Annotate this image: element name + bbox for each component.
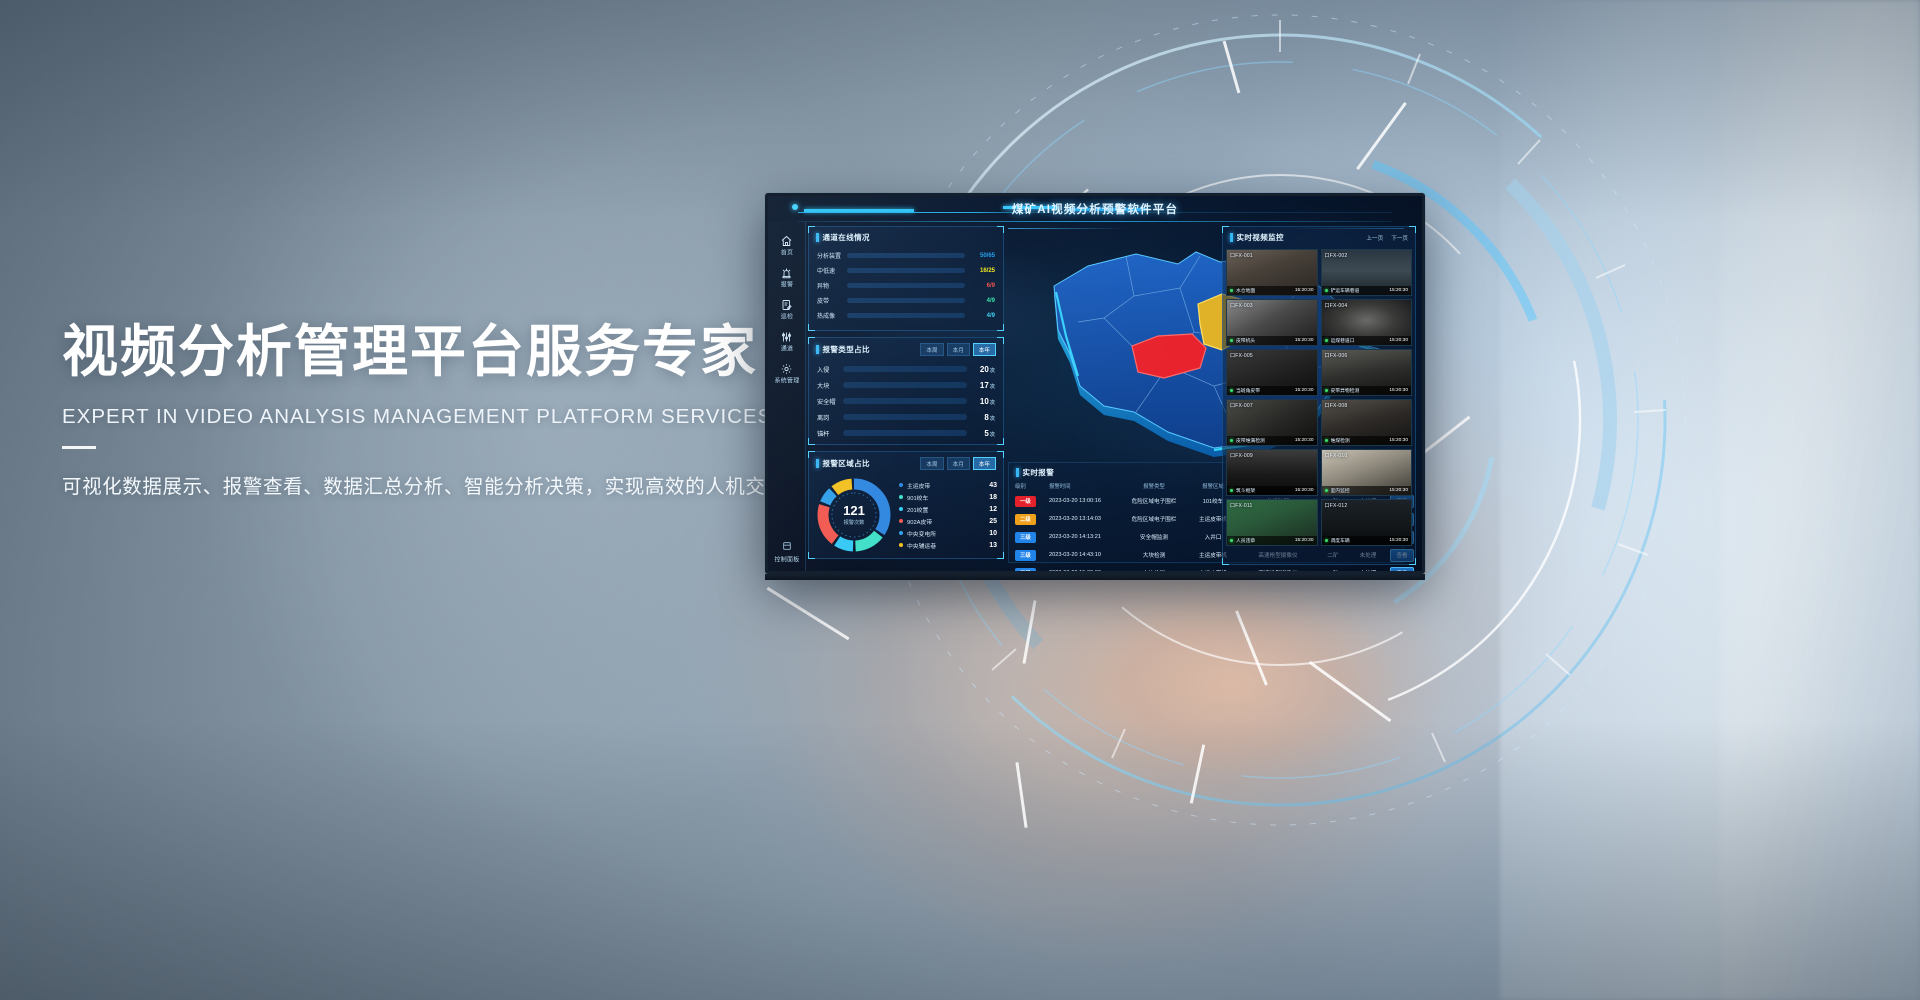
sidebar-item-label: 通道 <box>768 344 810 353</box>
video-caption-bar: 调度车辆15:20:30 <box>1322 536 1412 545</box>
alarm-table-column-header: 级别 <box>1015 482 1049 490</box>
table-row: 三级2023-03-20 15:08:00大块检测主运皮带机高速枪型摄像仪二矿未… <box>1015 564 1397 571</box>
sidebar-bottom-label: 控制面板 <box>774 555 799 564</box>
video-monitor-panel: 实时视频监控 上一页 下一页 口FX-001水仓地面15:20:30口FX-00… <box>1222 226 1416 565</box>
alarm-type-row: 安全帽10次 <box>817 393 995 409</box>
video-location-name: 皮带异物检测 <box>1331 387 1360 394</box>
alarm-type-cell: 大块检测 <box>1123 551 1185 559</box>
legend-value: 25 <box>989 518 997 525</box>
corner <box>808 451 815 458</box>
sidebar-item-label: 巡检 <box>768 312 810 321</box>
channel-row: 中低速16/25 <box>817 263 995 278</box>
alarm-icon <box>780 267 793 279</box>
legend-label: 主运皮带 <box>907 481 989 490</box>
legend-color-dot <box>899 495 903 499</box>
legend-color-dot <box>899 543 903 547</box>
legend-color-dot <box>899 531 903 535</box>
video-channel-id: 口FX-001 <box>1230 252 1253 259</box>
panel-title: 实时视频监控 <box>1237 232 1284 243</box>
alarm-type-row: 锚杆5次 <box>817 425 995 441</box>
channel-name: 异物 <box>817 281 847 290</box>
legend-color-dot <box>899 483 903 487</box>
donut-total: 121 <box>843 504 865 517</box>
period-tabs[interactable]: 本周本月本年 <box>920 343 996 356</box>
video-thumbnail[interactable]: 口FX-008堆煤检测15:20:30 <box>1321 399 1413 446</box>
alarm-type-name: 大块 <box>817 381 843 390</box>
legend-value: 18 <box>989 494 997 501</box>
video-channel-id: 口FX-007 <box>1230 402 1253 409</box>
panel-header: 报警区域占比 本周本月本年 <box>809 452 1003 473</box>
legend-value: 12 <box>989 506 997 513</box>
video-timestamp: 15:20:30 <box>1295 388 1314 393</box>
video-caption-bar: 室内监控15:20:30 <box>1322 486 1412 495</box>
gear-icon <box>780 363 793 375</box>
video-thumbnail[interactable]: 口FX-011人员违章15:20:30 <box>1226 499 1318 546</box>
alarm-type-row: 离岗8次 <box>817 409 995 425</box>
alarm-type-panel: 报警类型占比 本周本月本年 入侵20次大块17次安全帽10次离岗8次锚杆5次 <box>808 337 1004 445</box>
video-timestamp: 15:20:30 <box>1389 438 1408 443</box>
legend-row: 中央变电所10 <box>899 527 997 539</box>
monitor-bezel-bottom <box>765 574 1425 580</box>
alarm-type-value: 17次 <box>967 381 995 390</box>
status-badge: 一级 <box>1015 496 1036 507</box>
video-timestamp: 15:20:30 <box>1389 288 1408 293</box>
video-timestamp: 15:20:30 <box>1389 388 1408 393</box>
page-subtitle: EXPERT IN VIDEO ANALYSIS MANAGEMENT PLAT… <box>62 405 822 429</box>
legend-label: 902A皮带 <box>907 517 989 526</box>
corner <box>997 552 1004 559</box>
alarm-type-cell: 危险区域电子围栏 <box>1123 515 1185 523</box>
page-title: 视频分析管理平台服务专家 <box>62 322 822 385</box>
monitor-frame: 煤矿AI视频分析预警软件平台 首页 报警 巡检 通道 系统 <box>765 193 1425 574</box>
hero-text-block: 视频分析管理平台服务专家 EXPERT IN VIDEO ANALYSIS MA… <box>62 322 822 499</box>
alarm-level-cell: 三级 <box>1015 532 1049 543</box>
video-channel-id: 口FX-006 <box>1325 352 1348 359</box>
donut-center: 121 报警次数 <box>815 476 893 554</box>
video-thumbnail[interactable]: 口FX-006皮带异物检测15:20:30 <box>1321 349 1413 396</box>
channel-value: 6/9 <box>965 283 995 289</box>
video-grid: 口FX-001水仓地面15:20:30口FX-002铲运车辆巷道15:20:30… <box>1223 246 1415 549</box>
panel-title: 通道在线情况 <box>823 232 870 243</box>
sidebar-item-label: 首页 <box>768 248 810 257</box>
legend-label: 901绞车 <box>907 493 989 502</box>
online-status-dot <box>1230 539 1233 542</box>
video-caption-bar: 筑斗框架15:20:30 <box>1227 486 1317 495</box>
inspection-icon <box>780 299 793 311</box>
video-timestamp: 15:20:30 <box>1295 438 1314 443</box>
sidebar-item-inspection[interactable]: 巡检 <box>768 293 806 325</box>
alarm-table-column-header: 报警时间 <box>1049 482 1123 490</box>
tab-本月[interactable]: 本月 <box>947 343 970 356</box>
alarm-type-value: 20次 <box>967 365 995 374</box>
status-badge: 三级 <box>1015 532 1036 543</box>
video-thumbnail[interactable]: 口FX-003皮带机头15:20:30 <box>1226 299 1318 346</box>
sidebar-item-channel[interactable]: 通道 <box>768 325 806 357</box>
channel-value: 50/65 <box>965 253 995 259</box>
legend-value: 10 <box>989 530 997 537</box>
legend-row: 中央辅运巷13 <box>899 539 997 551</box>
corner <box>997 324 1004 331</box>
panel-accent-bar <box>816 233 819 242</box>
video-timestamp: 15:20:30 <box>1295 488 1314 493</box>
panel-header: 实时视频监控 上一页 下一页 <box>1223 227 1415 246</box>
panel-title: 报警类型占比 <box>823 344 870 355</box>
donut-legend: 主运皮带43901绞车18201绞置12902A皮带25中央变电所10中央辅运巷… <box>893 479 997 551</box>
prev-page-button[interactable]: 上一页 <box>1366 234 1383 242</box>
video-channel-id: 口FX-008 <box>1325 402 1348 409</box>
alarm-type-list: 入侵20次大块17次安全帽10次离岗8次锚杆5次 <box>809 359 1003 446</box>
alarm-level-cell: 三级 <box>1015 550 1049 561</box>
channel-name: 分析装置 <box>817 251 847 260</box>
video-channel-id: 口FX-009 <box>1230 452 1253 459</box>
online-status-dot <box>1325 489 1328 492</box>
alarm-time-cell: 2023-03-20 14:13:21 <box>1049 534 1123 540</box>
dashboard-screen: 煤矿AI视频分析预警软件平台 首页 报警 巡检 通道 系统 <box>768 196 1422 571</box>
alarm-type-track <box>843 382 967 388</box>
video-caption-bar: 运煤巷道口15:20:30 <box>1322 336 1412 345</box>
panel-title: 实时报警 <box>1023 467 1055 478</box>
online-status-dot <box>1230 289 1233 292</box>
alarm-time-cell: 2023-03-20 13:14:03 <box>1049 516 1123 522</box>
video-location-name: 皮带堆满检测 <box>1236 437 1265 444</box>
channel-name: 中低速 <box>817 266 847 275</box>
alarm-time-cell: 2023-03-20 14:43:10 <box>1049 552 1123 558</box>
donut-chart: 121 报警次数 <box>815 476 893 554</box>
corner <box>808 552 815 559</box>
panel-header: 通道在线情况 <box>809 227 1003 246</box>
legend-color-dot <box>899 507 903 511</box>
channel-row: 分析装置50/65 <box>817 248 995 263</box>
tab-本月[interactable]: 本月 <box>947 457 970 470</box>
online-status-dot <box>1325 339 1328 342</box>
alarm-type-unit: 次 <box>990 368 995 374</box>
alarm-type-row: 大块17次 <box>817 377 995 393</box>
video-timestamp: 15:20:30 <box>1389 338 1408 343</box>
video-thumbnail[interactable]: 口FX-010室内监控15:20:30 <box>1321 449 1413 496</box>
alarm-action-cell: 查看 <box>1385 567 1419 572</box>
video-caption-bar: 皮带机头15:20:30 <box>1227 336 1317 345</box>
channel-value: 4/9 <box>965 313 995 319</box>
video-channel-id: 口FX-010 <box>1325 452 1348 459</box>
video-location-name: 铲运车辆巷道 <box>1331 287 1360 294</box>
video-channel-id: 口FX-002 <box>1325 252 1348 259</box>
video-channel-id: 口FX-003 <box>1230 302 1253 309</box>
legend-label: 中央辅运巷 <box>907 541 989 550</box>
next-page-button[interactable]: 下一页 <box>1391 234 1408 242</box>
legend-color-dot <box>899 519 903 523</box>
channel-progress-track <box>847 298 965 303</box>
online-status-dot <box>1230 489 1233 492</box>
video-timestamp: 15:20:30 <box>1389 538 1408 543</box>
alarm-area-cell: 主运皮带机 <box>1185 569 1241 571</box>
channel-list: 分析装置50/65中低速16/25异物6/9皮带4/9热成像4/9 <box>809 246 1003 329</box>
sidebar-item-home[interactable]: 首页 <box>768 229 806 261</box>
video-thumbnail[interactable]: 口FX-001水仓地面15:20:30 <box>1226 249 1318 296</box>
video-channel-id: 口FX-004 <box>1325 302 1348 309</box>
video-thumbnail[interactable]: 口FX-002铲运车辆巷道15:20:30 <box>1321 249 1413 296</box>
video-channel-id: 口FX-012 <box>1325 502 1348 509</box>
video-caption-bar: 水仓地面15:20:30 <box>1227 286 1317 295</box>
video-location-name: 堆煤检测 <box>1331 437 1350 444</box>
sidebar-item-label: 系统管理 <box>768 376 810 385</box>
corner <box>808 438 815 445</box>
video-thumbnail[interactable]: 口FX-012调度车辆15:20:30 <box>1321 499 1413 546</box>
corner <box>997 451 1004 458</box>
alarm-type-name: 入侵 <box>817 365 843 374</box>
video-location-name: 皮带机头 <box>1236 337 1255 344</box>
alarm-level-cell: 三级 <box>1015 568 1049 572</box>
panel-accent-bar <box>816 345 819 354</box>
video-timestamp: 15:20:30 <box>1295 538 1314 543</box>
alarm-type-unit: 次 <box>990 384 995 390</box>
alarm-time-cell: 2023-03-20 13:00:16 <box>1049 498 1123 504</box>
legend-value: 13 <box>989 542 997 549</box>
legend-value: 43 <box>989 482 997 489</box>
video-location-name: 筑斗框架 <box>1236 487 1255 494</box>
panel-title: 报警区域占比 <box>823 458 870 469</box>
tab-本年[interactable]: 本年 <box>973 343 996 356</box>
status-badge: 二级 <box>1015 514 1036 525</box>
channel-name: 热成像 <box>817 311 847 320</box>
online-status-dot <box>1230 439 1233 442</box>
video-location-name: 运煤巷道口 <box>1331 337 1355 344</box>
dashboard-title: 煤矿AI视频分析预警软件平台 <box>768 201 1422 217</box>
video-caption-bar: 皮带堆满检测15:20:30 <box>1227 436 1317 445</box>
donut-total-caption: 报警次数 <box>844 519 865 526</box>
online-status-dot <box>1325 439 1328 442</box>
alarm-type-unit: 次 <box>990 432 995 438</box>
alarm-type-unit: 次 <box>990 400 995 406</box>
video-timestamp: 15:20:30 <box>1295 288 1314 293</box>
corner <box>1409 226 1416 233</box>
video-location-name: 当斑角皮带 <box>1236 387 1260 394</box>
dashboard-sidebar[interactable]: 首页 报警 巡检 通道 系统管理 控制面板 <box>768 222 806 571</box>
page-description: 可视化数据展示、报警查看、数据汇总分析、智能分析决策，实现高效的人机交互 <box>62 470 822 499</box>
alarm-type-track <box>843 430 967 436</box>
legend-label: 中央变电所 <box>907 529 989 538</box>
alarm-type-value: 8次 <box>967 413 995 422</box>
online-status-dot <box>1325 389 1328 392</box>
video-location-name: 室内监控 <box>1331 487 1350 494</box>
status-badge: 三级 <box>1015 550 1036 561</box>
online-status-dot <box>1230 389 1233 392</box>
video-caption-bar: 皮带异物检测15:20:30 <box>1322 386 1412 395</box>
channel-name: 皮带 <box>817 296 847 305</box>
alarm-mine-cell: 二矿 <box>1315 569 1351 571</box>
alarm-type-cell: 大块检测 <box>1123 569 1185 571</box>
online-status-dot <box>1325 539 1328 542</box>
period-tabs[interactable]: 本周本月本年 <box>920 457 996 470</box>
right-column: 实时视频监控 上一页 下一页 口FX-001水仓地面15:20:30口FX-00… <box>1222 226 1416 565</box>
view-button[interactable]: 查看 <box>1390 567 1415 572</box>
channel-value: 16/25 <box>965 268 995 274</box>
alarm-state-cell: 未处理 <box>1351 569 1385 571</box>
online-status-dot <box>1230 339 1233 342</box>
panel-accent-bar <box>1016 468 1019 477</box>
corner <box>997 438 1004 445</box>
alarm-table-column-header: 报警类型 <box>1123 482 1185 490</box>
header-underline <box>798 221 1392 222</box>
video-pager[interactable]: 上一页 下一页 <box>1366 234 1408 242</box>
dashboard-header: 煤矿AI视频分析预警软件平台 <box>768 196 1422 222</box>
sidebar-item-label: 报警 <box>768 280 810 289</box>
online-status-dot <box>1325 289 1328 292</box>
corner <box>1222 558 1229 565</box>
channel-progress-track <box>847 253 965 258</box>
alarm-type-track <box>843 366 967 372</box>
alarm-type-unit: 次 <box>990 416 995 422</box>
video-caption-bar: 人员违章15:20:30 <box>1227 536 1317 545</box>
sidebar-item-system[interactable]: 系统管理 <box>768 357 806 389</box>
video-location-name: 水仓地面 <box>1236 287 1255 294</box>
map-top-line-left <box>1008 228 1128 229</box>
video-channel-id: 口FX-005 <box>1230 352 1253 359</box>
alarm-type-value: 10次 <box>967 397 995 406</box>
channel-row: 热成像4/9 <box>817 308 995 323</box>
tab-本周[interactable]: 本周 <box>920 343 943 356</box>
video-caption-bar: 堆煤检测15:20:30 <box>1322 436 1412 445</box>
donut-chart-wrap: 121 报警次数 主运皮带43901绞车18201绞置12902A皮带25中央变… <box>809 473 1003 558</box>
alarm-type-name: 安全帽 <box>817 397 843 406</box>
sidebar-item-control-panel[interactable]: 控制面板 <box>777 538 797 571</box>
alarm-type-track <box>843 414 967 420</box>
video-location-name: 人员违章 <box>1236 537 1255 544</box>
corner <box>1409 558 1416 565</box>
channel-online-panel: 通道在线情况 分析装置50/65中低速16/25异物6/9皮带4/9热成像4/9 <box>808 226 1004 331</box>
corner <box>1222 226 1229 233</box>
video-thumbnail[interactable]: 口FX-007皮带堆满检测15:20:30 <box>1226 399 1318 446</box>
panel-header: 报警类型占比 本周本月本年 <box>809 338 1003 359</box>
alarm-type-value: 5次 <box>967 429 995 438</box>
corner <box>808 337 815 344</box>
home-icon <box>780 235 793 247</box>
video-caption-bar: 铲运车辆巷道15:20:30 <box>1322 286 1412 295</box>
video-thumbnail[interactable]: 口FX-005当斑角皮带15:20:30 <box>1226 349 1318 396</box>
legend-row: 201绞置12 <box>899 503 997 515</box>
video-location-name: 调度车辆 <box>1331 537 1350 544</box>
video-timestamp: 15:20:30 <box>1389 488 1408 493</box>
legend-label: 201绞置 <box>907 505 989 514</box>
corner <box>808 226 815 233</box>
alarm-area-panel: 报警区域占比 本周本月本年 121 报警次数 主运皮带43901绞车18201绞… <box>808 451 1004 559</box>
alarm-type-cell: 安全帽监测 <box>1123 533 1185 541</box>
panel-accent-bar <box>816 459 819 468</box>
panel-icon <box>782 541 792 551</box>
legend-row: 主运皮带43 <box>899 479 997 491</box>
channel-value: 4/9 <box>965 298 995 304</box>
panel-accent-bar <box>1230 233 1233 242</box>
channel-progress-track <box>847 268 965 273</box>
alarm-type-track <box>843 398 967 404</box>
channel-row: 皮带4/9 <box>817 293 995 308</box>
divider-rule <box>62 446 96 449</box>
alarm-time-cell: 2023-03-20 15:08:00 <box>1049 570 1123 571</box>
video-timestamp: 15:20:30 <box>1295 338 1314 343</box>
legend-row: 901绞车18 <box>899 491 997 503</box>
corner <box>997 337 1004 344</box>
corner <box>997 226 1004 233</box>
channel-progress-track <box>847 313 965 318</box>
video-thumbnail[interactable]: 口FX-009筑斗框架15:20:30 <box>1226 449 1318 496</box>
channel-row: 异物6/9 <box>817 278 995 293</box>
alarm-type-row: 入侵20次 <box>817 361 995 377</box>
alarm-type-name: 锚杆 <box>817 429 843 438</box>
video-channel-id: 口FX-011 <box>1230 502 1252 509</box>
tab-本周[interactable]: 本周 <box>920 457 943 470</box>
channel-icon <box>780 331 793 343</box>
video-caption-bar: 当斑角皮带15:20:30 <box>1227 386 1317 395</box>
sidebar-item-alarm[interactable]: 报警 <box>768 261 806 293</box>
tab-本年[interactable]: 本年 <box>973 457 996 470</box>
alarm-device-cell: 高速枪型摄像仪 <box>1241 569 1315 571</box>
status-badge: 三级 <box>1015 568 1036 572</box>
alarm-level-cell: 二级 <box>1015 514 1049 525</box>
alarm-type-name: 离岗 <box>817 413 843 422</box>
alarm-type-cell: 危险区域电子围栏 <box>1123 497 1185 505</box>
channel-progress-track <box>847 283 965 288</box>
left-column: 通道在线情况 分析装置50/65中低速16/25异物6/9皮带4/9热成像4/9… <box>808 226 1004 565</box>
legend-row: 902A皮带25 <box>899 515 997 527</box>
corner <box>808 324 815 331</box>
alarm-level-cell: 一级 <box>1015 496 1049 507</box>
video-thumbnail[interactable]: 口FX-004运煤巷道口15:20:30 <box>1321 299 1413 346</box>
